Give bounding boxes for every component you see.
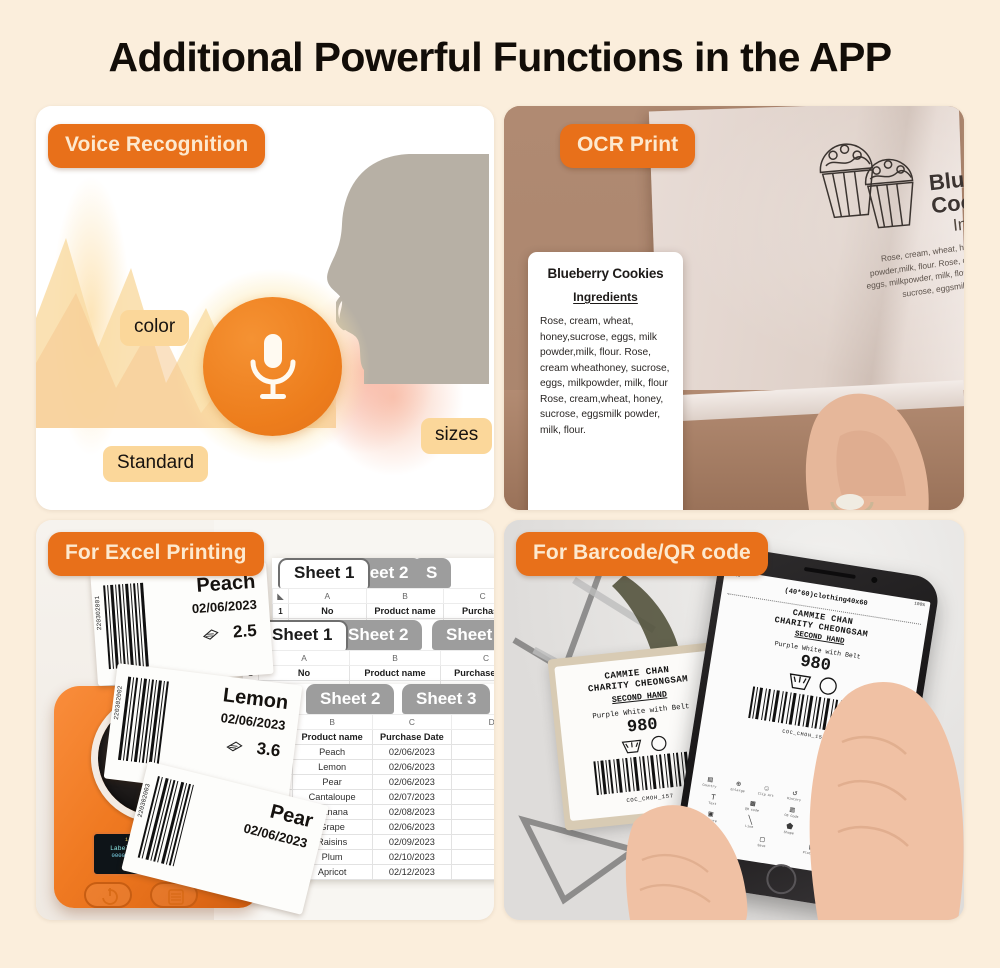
toolbar-item-clip-art[interactable]: ☺ Clip Art	[754, 783, 778, 800]
col-c: C	[441, 651, 495, 666]
cell: Product name	[366, 604, 444, 619]
ocr-card-title: Blueberry Cookies	[540, 266, 671, 281]
cell: 02/12/2023	[372, 865, 452, 880]
panel-title-barcode-qr: For Barcode/QR code	[516, 532, 768, 576]
panel-title-voice-recognition: Voice Recognition	[48, 124, 265, 168]
cell: Purchase Date	[441, 666, 495, 681]
label-price: 2.5	[232, 621, 257, 643]
wash-basket-icon	[622, 740, 641, 753]
sheet-tab-1[interactable]: Sheet 1	[278, 558, 370, 588]
cell: 2.14	[452, 820, 494, 835]
table-row: 1 No Product name Purchase	[273, 604, 495, 619]
cell: 2.5	[452, 745, 494, 760]
phone-camera	[871, 577, 878, 584]
phone-speaker	[804, 567, 856, 579]
price-tag-icon	[202, 627, 219, 640]
cell: 1.01	[452, 775, 494, 790]
cell: Lemon	[292, 760, 372, 775]
col-c: C	[372, 715, 452, 730]
sheet-tab-2[interactable]: Sheet 2	[306, 684, 394, 714]
panel-title-excel-printing: For Excel Printing	[48, 532, 264, 576]
cell: Product name	[292, 730, 372, 745]
circle-icon	[651, 736, 666, 751]
cell: 2.02	[452, 835, 494, 850]
price-tag-icon	[226, 739, 243, 753]
poster-root: Additional Powerful Functions in the APP	[0, 0, 1000, 968]
cell: 02/07/2023	[372, 790, 452, 805]
hand-holding-phone	[794, 650, 964, 920]
cell: 02/06/2023	[372, 745, 452, 760]
sheet-tab-3[interactable]: Sheet	[432, 620, 494, 650]
panel-barcode-qr: CAMMIE CHAN CHARITY CHEONGSAM SECOND HAN…	[504, 520, 964, 920]
voice-tag-color[interactable]: color	[120, 310, 189, 346]
voice-tag-standard[interactable]: Standard	[103, 446, 208, 482]
panel-excel-printing: S Sheet 2 Sheet 1 ◣ A B C 1 No Product n…	[36, 520, 494, 920]
ocr-card-body: Rose, cream, wheat, honey,sucrose, eggs,…	[540, 314, 671, 438]
voice-tag-sizes[interactable]: sizes	[421, 418, 492, 454]
cell: Pear	[292, 775, 372, 790]
barcode-icon	[116, 676, 170, 765]
cell: Purchase Date	[372, 730, 452, 745]
microphone-button[interactable]	[203, 297, 342, 436]
cell: 02/09/2023	[372, 835, 452, 850]
cell: 02/08/2023	[372, 805, 452, 820]
cell: 02/06/2023	[372, 775, 452, 790]
cell	[452, 730, 494, 745]
hand-holding-book	[780, 316, 964, 510]
hand-holding-tag	[624, 770, 754, 920]
page-title: Additional Powerful Functions in the APP	[0, 34, 1000, 81]
cell: Product name	[350, 666, 441, 681]
panel-title-ocr-print: OCR Print	[560, 124, 695, 168]
sheet-tab-3[interactable]: Sheet 3	[402, 684, 490, 714]
cell: 3.6	[452, 760, 494, 775]
col-b: B	[366, 589, 444, 604]
cell: Purchase	[444, 604, 494, 619]
col-a: A	[289, 589, 367, 604]
sheet-tab-bar-1: S Sheet 2 Sheet 1	[272, 558, 494, 588]
ocr-result-card: Blueberry Cookies Ingredients Rose, crea…	[528, 252, 683, 510]
col-b: B	[292, 715, 372, 730]
label-price: 3.6	[256, 739, 282, 762]
cell: 4.2	[452, 790, 494, 805]
cupcake-illustration	[809, 116, 944, 244]
cell: Peach	[292, 745, 372, 760]
column-header-row: ◣ A B C	[273, 589, 495, 604]
cell: 1.5	[452, 805, 494, 820]
cell: 1.72	[452, 865, 494, 880]
printed-label-strip: 220302001 Peach 02/06/2023 2.5	[88, 568, 284, 898]
col-b: B	[350, 651, 441, 666]
ocr-card-subtitle: Ingredients	[540, 290, 671, 304]
label-purchase-date: 02/06/2023	[191, 597, 257, 617]
col-d: D	[452, 715, 494, 730]
cell: No	[289, 604, 367, 619]
cell: 02/06/2023	[372, 820, 452, 835]
col-c: C	[444, 589, 494, 604]
microphone-icon	[242, 330, 304, 404]
cell: 02/06/2023	[372, 760, 452, 775]
cell: 02/10/2023	[372, 850, 452, 865]
cell: 1.82	[452, 850, 494, 865]
barcode-icon	[101, 582, 151, 669]
